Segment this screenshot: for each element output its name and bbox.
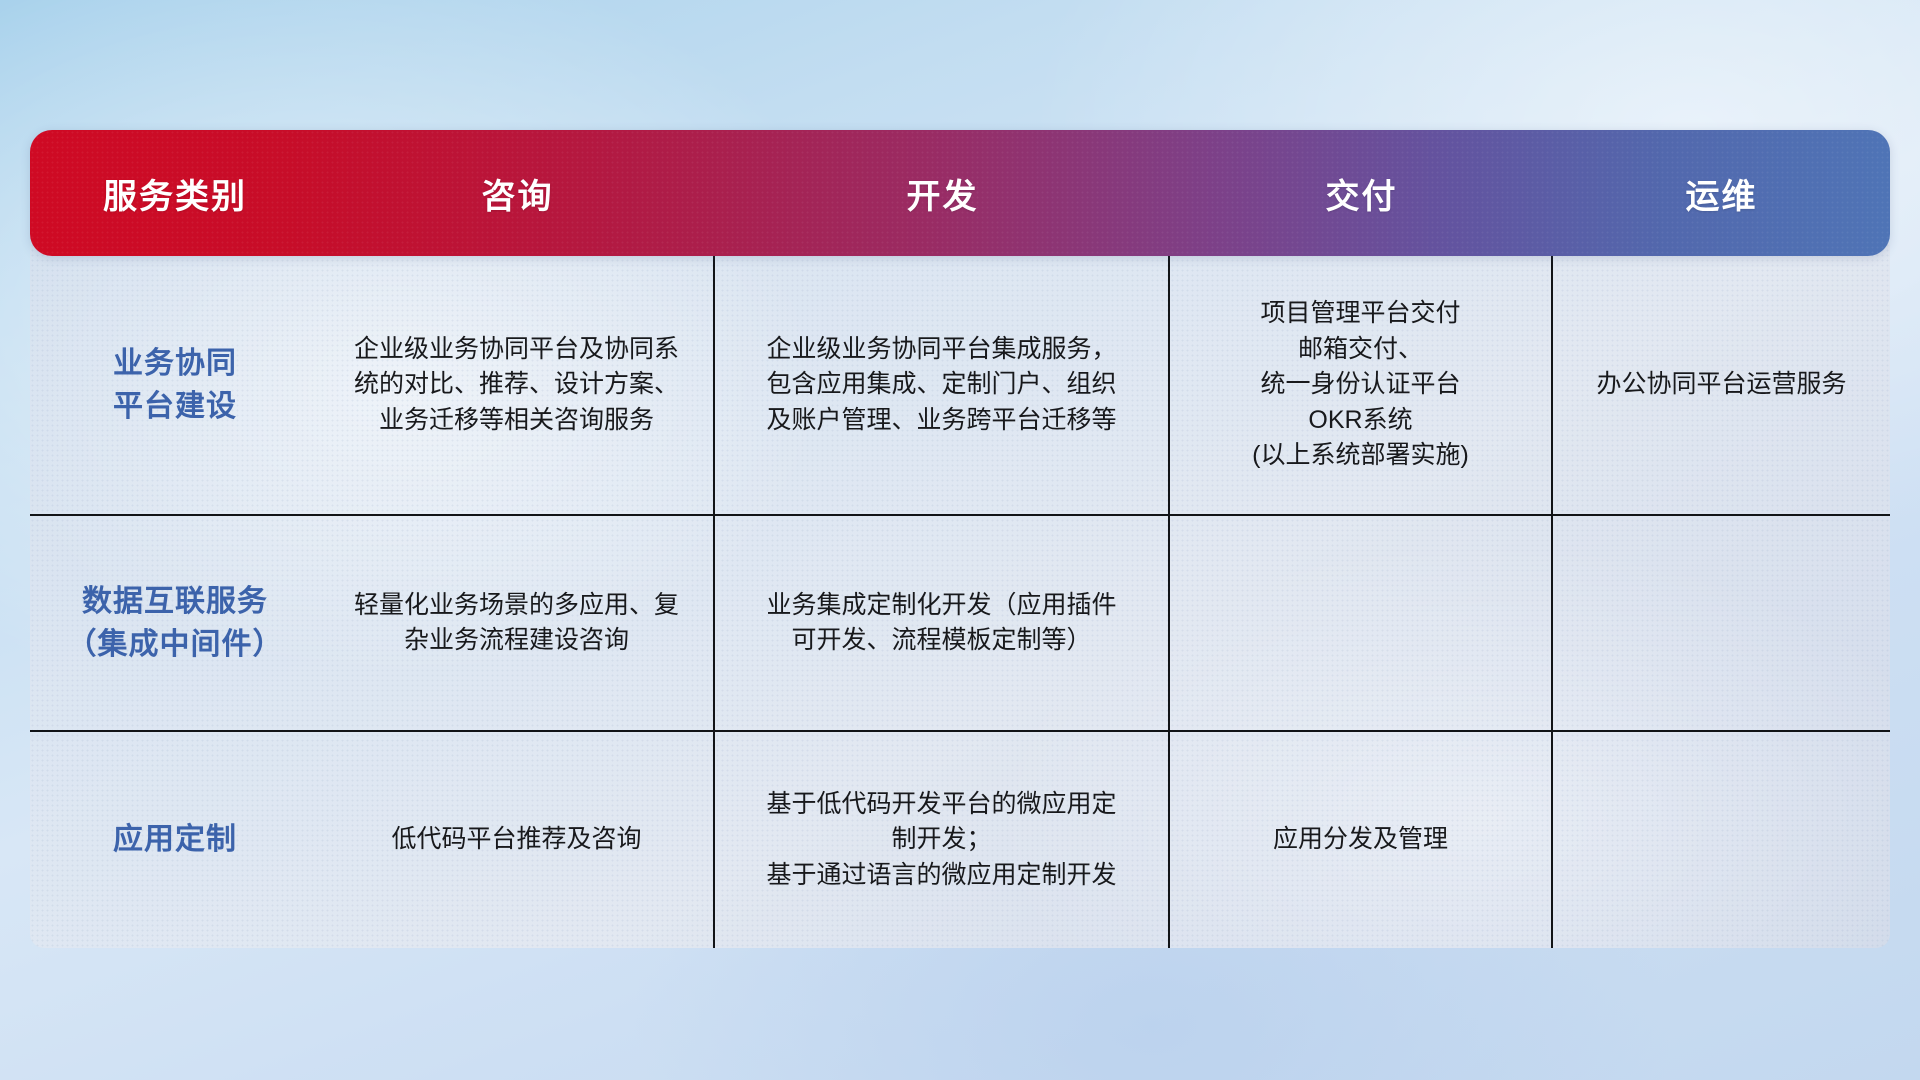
cell-development: 企业级业务协同平台集成服务， 包含应用集成、定制门户、组织 及账户管理、业务跨平… [715, 256, 1170, 514]
cell-text: 应用分发及管理 [1273, 822, 1448, 858]
cell-development: 基于低代码开发平台的微应用定 制开发； 基于通过语言的微应用定制开发 [715, 732, 1170, 948]
row-category-label: 应用定制 [113, 818, 237, 862]
cell-text: 企业级业务协同平台及协同系 统的对比、推荐、设计方案、 业务迁移等相关咨询服务 [354, 332, 679, 439]
cell-development: 业务集成定制化开发（应用插件 可开发、流程模板定制等） [715, 516, 1170, 730]
cell-delivery: 应用分发及管理 [1170, 732, 1553, 948]
cell-delivery: 项目管理平台交付 邮箱交付、 统一身份认证平台 OKR系统 (以上系统部署实施) [1170, 256, 1553, 514]
cell-consulting: 低代码平台推荐及咨询 [320, 732, 715, 948]
column-header-operations: 运维 [1553, 169, 1890, 218]
table-row: 业务协同 平台建设 企业级业务协同平台及协同系 统的对比、推荐、设计方案、 业务… [30, 256, 1890, 516]
column-header-consulting: 咨询 [320, 169, 715, 218]
table-header-row: 服务类别 咨询 开发 交付 运维 [30, 130, 1890, 256]
row-category-cell: 业务协同 平台建设 [30, 256, 320, 514]
table-row: 应用定制 低代码平台推荐及咨询 基于低代码开发平台的微应用定 制开发； 基于通过… [30, 732, 1890, 948]
cell-consulting: 企业级业务协同平台及协同系 统的对比、推荐、设计方案、 业务迁移等相关咨询服务 [320, 256, 715, 514]
table-body: 业务协同 平台建设 企业级业务协同平台及协同系 统的对比、推荐、设计方案、 业务… [30, 233, 1890, 948]
cell-text: 项目管理平台交付 邮箱交付、 统一身份认证平台 OKR系统 (以上系统部署实施) [1252, 296, 1469, 474]
cell-text: 轻量化业务场景的多应用、复 杂业务流程建设咨询 [354, 588, 679, 659]
table-row: 数据互联服务 （集成中间件） 轻量化业务场景的多应用、复 杂业务流程建设咨询 业… [30, 516, 1890, 732]
cell-delivery [1170, 516, 1553, 730]
row-category-label: 业务协同 平台建设 [113, 342, 237, 429]
column-header-delivery: 交付 [1170, 169, 1553, 218]
cell-text: 企业级业务协同平台集成服务， 包含应用集成、定制门户、组织 及账户管理、业务跨平… [766, 332, 1116, 439]
cell-operations: 办公协同平台运营服务 [1553, 256, 1890, 514]
cell-operations [1553, 732, 1890, 948]
row-category-cell: 数据互联服务 （集成中间件） [30, 516, 320, 730]
cell-text: 办公协同平台运营服务 [1596, 367, 1846, 403]
cell-text: 基于低代码开发平台的微应用定 制开发； 基于通过语言的微应用定制开发 [766, 787, 1116, 894]
service-matrix-table: 服务类别 咨询 开发 交付 运维 业务协同 平台建设 企业级业务协同平台及协同系… [30, 130, 1890, 948]
cell-text: 业务集成定制化开发（应用插件 可开发、流程模板定制等） [766, 588, 1116, 659]
column-header-category: 服务类别 [30, 169, 320, 218]
cell-operations [1553, 516, 1890, 730]
row-category-cell: 应用定制 [30, 732, 320, 948]
column-header-development: 开发 [715, 169, 1170, 218]
cell-text: 低代码平台推荐及咨询 [391, 822, 641, 858]
cell-consulting: 轻量化业务场景的多应用、复 杂业务流程建设咨询 [320, 516, 715, 730]
row-category-label: 数据互联服务 （集成中间件） [67, 580, 284, 667]
